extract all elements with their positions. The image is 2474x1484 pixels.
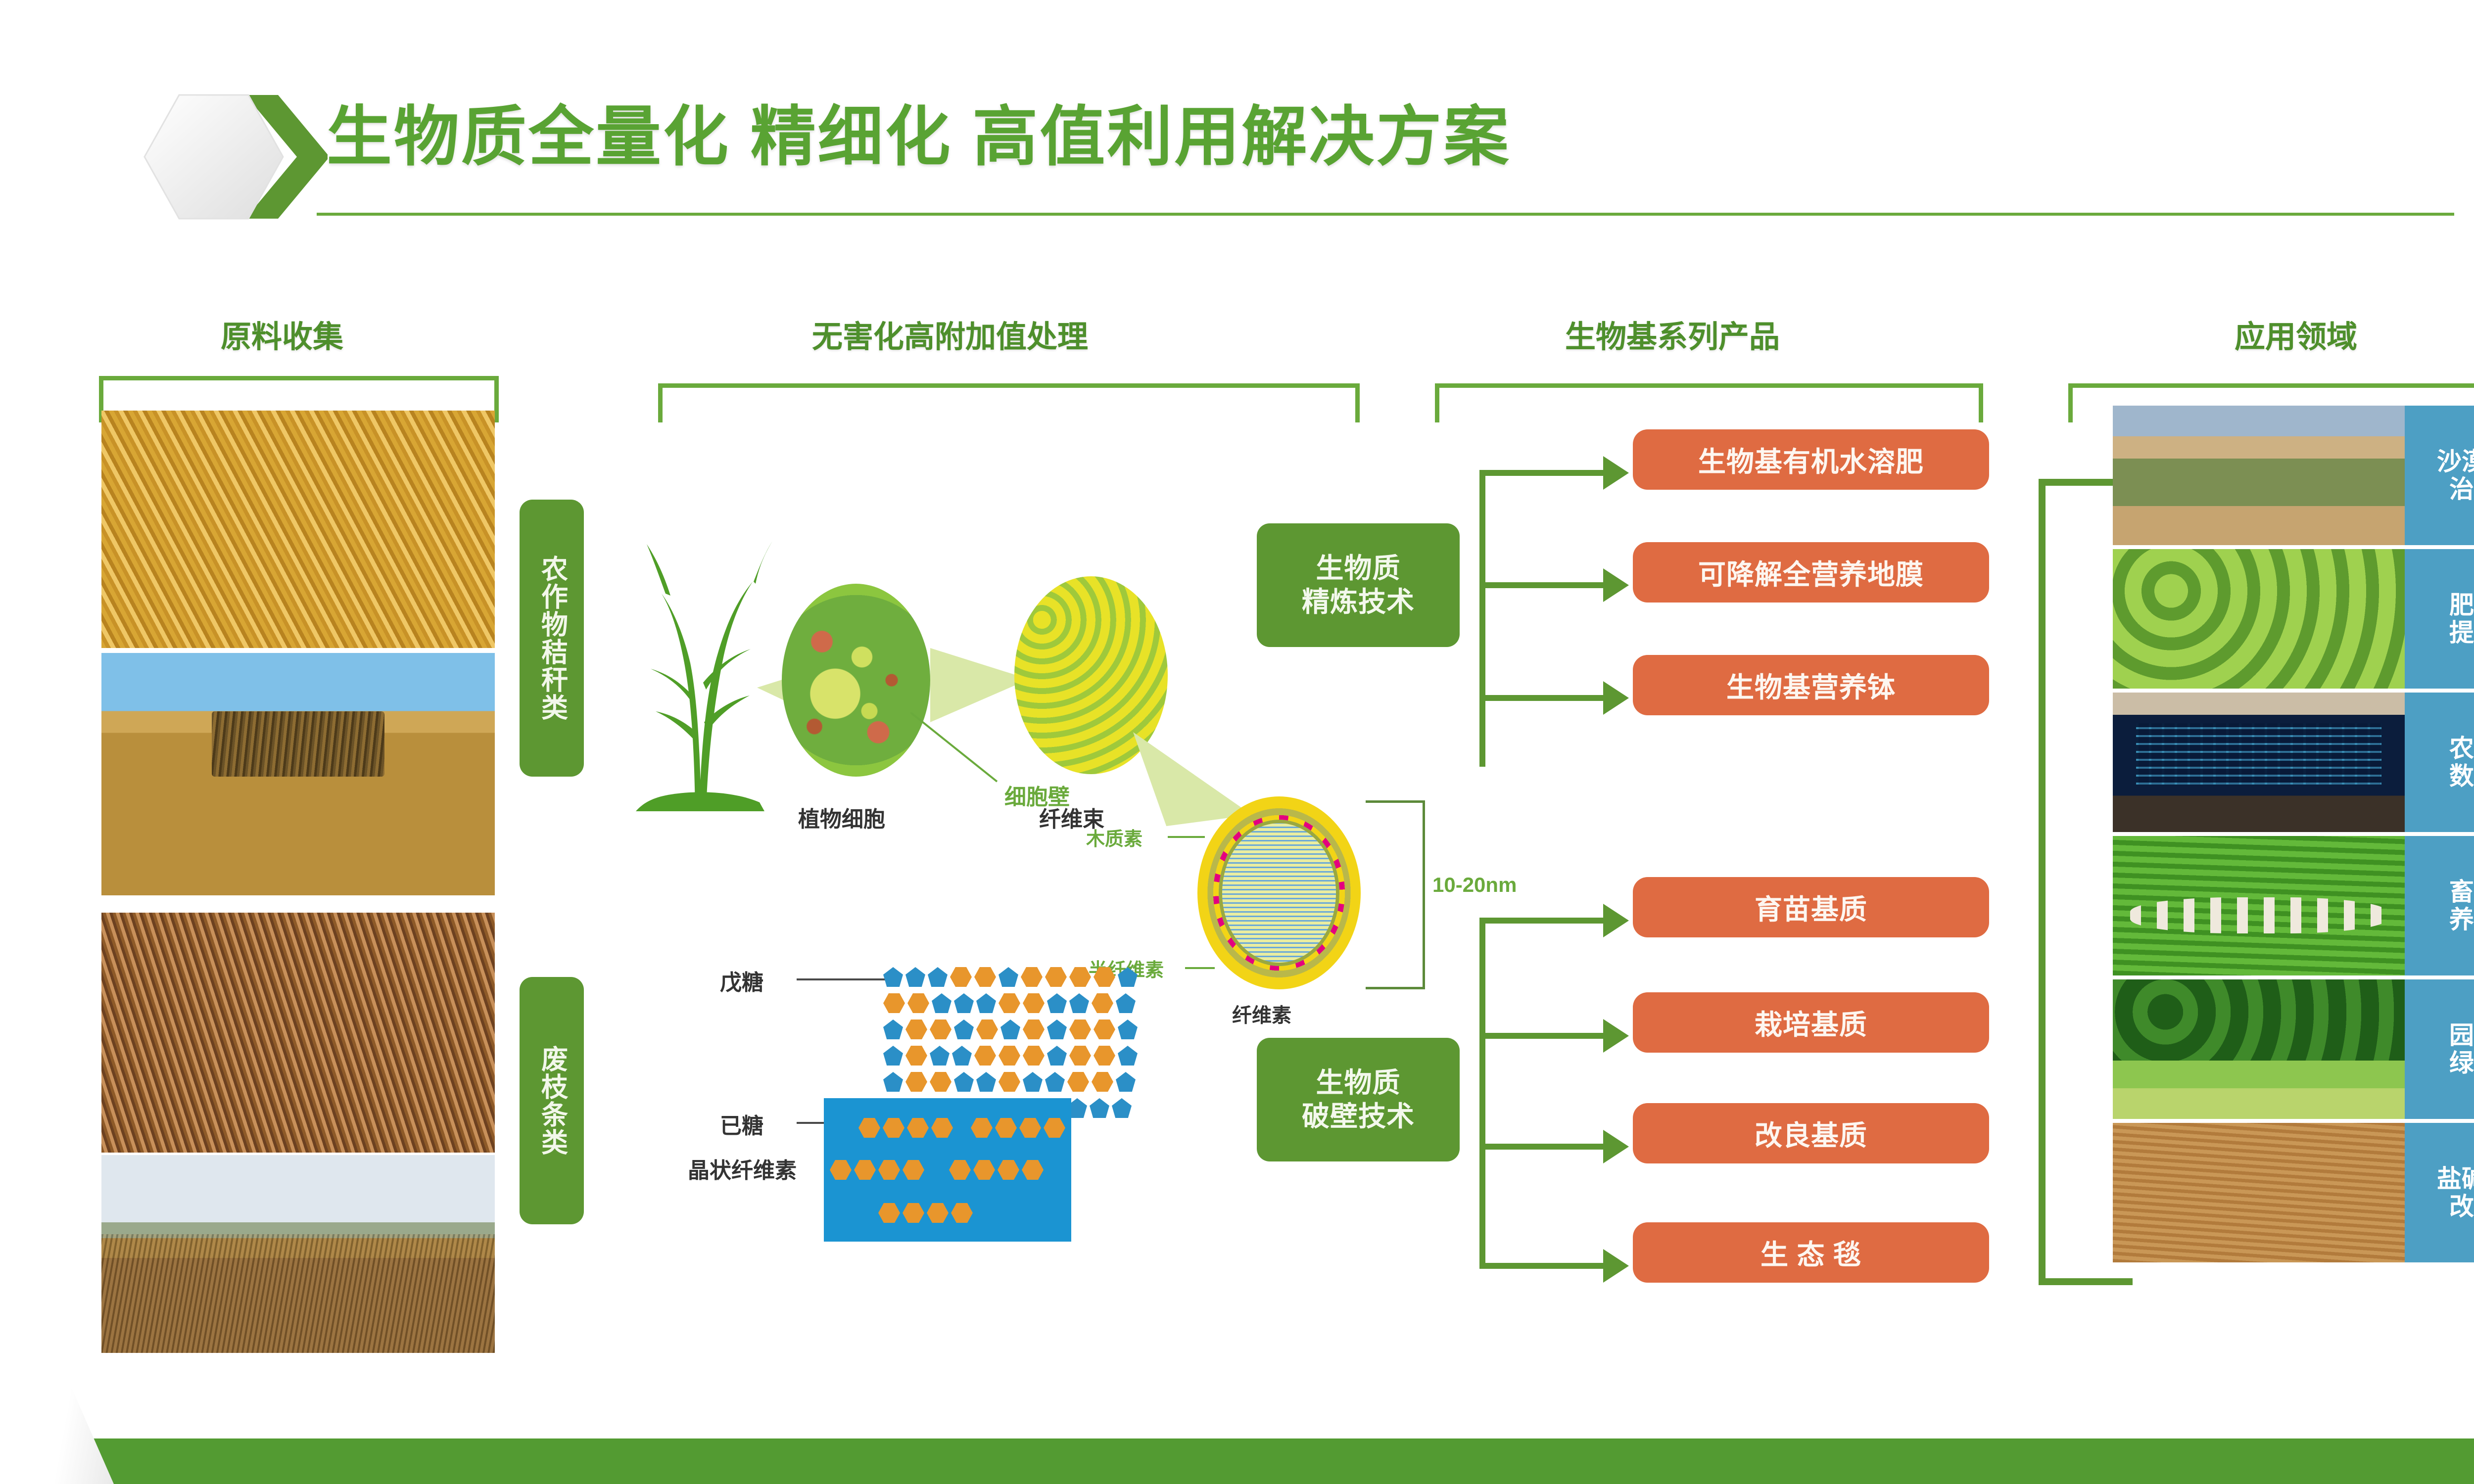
sugar-chain-row [883,1046,1138,1066]
dimension-line [1423,800,1425,989]
application-label-line2: 养殖 [2449,906,2474,933]
application-label-line1: 农业 [2449,735,2474,762]
raw-photo-corn-straw [101,411,495,648]
caption-hexose: 已糖 [720,1108,763,1140]
caption-plant-cell: 植物细胞 [798,801,885,833]
product-box-improvement-substrate[interactable]: 改良基质 [1633,1103,1989,1163]
raw-material-tag-branches: 废枝条类 [520,977,584,1224]
caption-cell-wall: 细胞壁 [1004,779,1070,811]
crystalline-cellulose-illustration [824,1098,1071,1242]
pentose-leader-line [797,978,886,980]
product-box-ecological-blanket[interactable]: 生 态 毯 [1633,1222,1989,1283]
stage-label-applications: 应用领域 [2142,312,2449,356]
application-label-line1: 盐碱地 [2437,1165,2474,1193]
tech-box-wall-breaking[interactable]: 生物质 破壁技术 [1257,1038,1460,1161]
connector-branch-4 [1479,918,1608,924]
cell-wall-leader-line [910,712,1019,787]
hexagon-chevron-logo [130,75,328,238]
lignin-leader-line [1168,836,1205,838]
application-label-line2: 改良 [2437,1193,2474,1220]
page-title: 生物质全量化 精细化 高值利用解决方案 [327,84,1511,179]
application-photo-agridata [2113,693,2405,832]
connector-branch-6 [1479,1144,1608,1150]
footer-corner-shape [0,1375,114,1484]
sugar-chain-row [883,967,1138,987]
connector-branch-1 [1479,470,1608,476]
caption-pentose: 戊糖 [720,965,763,996]
application-label-line2: 绿化 [2449,1049,2474,1077]
application-bracket-bottom [2039,1278,2133,1285]
product-box-cultivation-substrate[interactable]: 栽培基质 [1633,992,1989,1053]
raw-photo-branches [101,913,495,1153]
hemicellulose-leader-line [1185,967,1215,969]
application-label-line2: 治理 [2437,475,2474,503]
sugar-chain-row [883,993,1136,1013]
caption-cellulose: 纤维素 [1232,999,1291,1028]
stage-bracket-processing [658,383,1360,422]
arrow-to-product-5 [1603,1019,1629,1053]
connector-branch-3 [1479,695,1608,701]
arrow-to-product-7 [1603,1249,1629,1283]
product-box-seedling-substrate[interactable]: 育苗基质 [1633,877,1989,937]
application-tag-fertility[interactable]: 肥力 提升 [2405,549,2474,689]
arrow-to-product-2 [1603,568,1629,602]
stage-label-products: 生物基系列产品 [1450,312,1895,356]
stage-bracket-products [1435,383,1983,422]
application-photo-saline [2113,1123,2405,1262]
tech-label-line1: 生物质 [1302,552,1415,585]
application-label-line1: 园林 [2449,1021,2474,1049]
application-photo-desert [2113,406,2405,545]
dimension-tick-bottom [1366,987,1425,989]
connector-trunk-top [1479,470,1485,767]
stage-label-collection: 原料收集 [139,312,426,356]
arrow-to-product-6 [1603,1130,1629,1163]
application-label-line1: 肥力 [2449,591,2474,619]
application-tag-livestock[interactable]: 畜牧 养殖 [2405,836,2474,975]
application-label-line1: 畜牧 [2449,878,2474,906]
caption-dimension: 10-20nm [1432,873,1517,897]
fiber-cross-section-illustration [1197,796,1361,989]
raw-photo-baled-straw [101,653,495,895]
plant-cell-illustration [782,584,930,777]
application-tag-saline[interactable]: 盐碱地 改良 [2405,1123,2474,1262]
stage-label-processing: 无害化高附加值处理 [708,312,1192,356]
application-photo-livestock [2113,836,2405,975]
connector-branch-2 [1479,582,1608,588]
application-tag-greening[interactable]: 园林 绿化 [2405,979,2474,1119]
application-bracket-spine [2039,479,2046,1285]
arrow-to-product-3 [1603,681,1629,715]
dimension-tick-top [1366,800,1425,803]
connector-trunk-bottom [1479,918,1485,1269]
sugar-chain-row [883,1020,1138,1039]
product-box-biodegradable-mulch-film[interactable]: 可降解全营养地膜 [1633,542,1989,603]
connector-branch-7 [1479,1263,1608,1269]
raw-photo-orchard-pruning [101,1155,495,1353]
application-photo-fertility [2113,549,2405,689]
tech-label-line1: 生物质 [1302,1066,1415,1100]
title-underline [317,213,2454,216]
caption-lignin: 木质素 [1086,824,1142,851]
arrow-to-product-4 [1603,904,1629,937]
application-label-line2: 提升 [2449,619,2474,647]
tech-label-line2: 破壁技术 [1302,1100,1415,1133]
application-photo-greening [2113,979,2405,1119]
application-tag-desert[interactable]: 沙漠化 治理 [2405,406,2474,545]
application-tag-agridata[interactable]: 农业 数据 [2405,693,2474,832]
application-label-line1: 沙漠化 [2437,448,2474,475]
product-box-nutrition-pot[interactable]: 生物基营养钵 [1633,655,1989,715]
tech-box-refining[interactable]: 生物质 精炼技术 [1257,523,1460,647]
footer-bar [0,1438,2474,1484]
arrow-to-product-1 [1603,456,1629,490]
product-box-water-soluble-fertilizer[interactable]: 生物基有机水溶肥 [1633,429,1989,490]
application-label-line2: 数据 [2449,762,2474,790]
connector-branch-5 [1479,1033,1608,1039]
sugar-chain-row [883,1072,1136,1092]
rice-plant-icon [636,534,779,821]
caption-crystalline-cellulose: 晶状纤维素 [688,1153,797,1184]
raw-material-tag-straw: 农作物秸秆类 [520,500,584,777]
tech-label-line2: 精炼技术 [1302,585,1415,619]
